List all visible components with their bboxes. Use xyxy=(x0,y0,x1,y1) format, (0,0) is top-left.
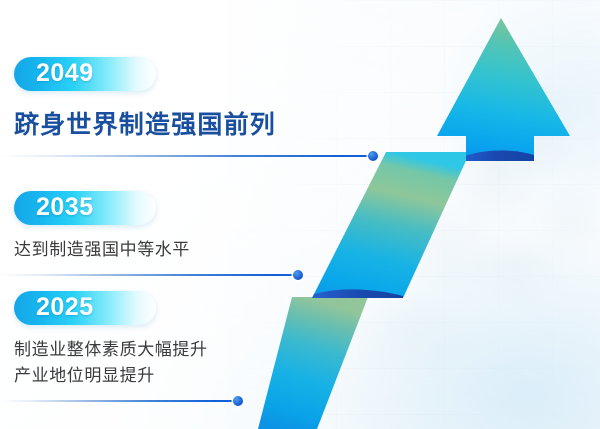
year-badge-2035[interactable]: 2035 xyxy=(14,191,156,225)
year-label: 2025 xyxy=(36,293,94,322)
connector-node-dot xyxy=(233,396,243,406)
year-badge-2049[interactable]: 2049 xyxy=(14,57,156,91)
connector-rule xyxy=(0,274,294,276)
year-badge-2025[interactable]: 2025 xyxy=(14,291,156,325)
milestone-2049: 2049 跻身世界制造强国前列 xyxy=(14,57,276,141)
infographic-poster: 2049 跻身世界制造强国前列 2035 达到制造强国中等水平 2025 制造业… xyxy=(0,0,600,429)
milestone-text-2035: 达到制造强国中等水平 xyxy=(14,238,190,262)
milestone-2035: 2035 达到制造强国中等水平 xyxy=(14,191,190,262)
connector-node-dot xyxy=(293,270,303,280)
milestone-text-2025-line1: 制造业整体素质大幅提升 xyxy=(14,338,208,362)
connector-rule xyxy=(0,155,369,157)
milestone-text-2025-line2: 产业地位明显提升 xyxy=(14,364,208,388)
milestone-headline-2049: 跻身世界制造强国前列 xyxy=(14,105,276,141)
year-label: 2049 xyxy=(36,59,94,88)
milestone-2025: 2025 制造业整体素质大幅提升 产业地位明显提升 xyxy=(14,291,208,388)
connector-line-2025 xyxy=(0,396,243,406)
connector-line-2035 xyxy=(0,270,303,280)
connector-node-dot xyxy=(368,151,378,161)
year-label: 2035 xyxy=(36,193,94,222)
connector-rule xyxy=(0,400,234,402)
connector-line-2049 xyxy=(0,151,378,161)
